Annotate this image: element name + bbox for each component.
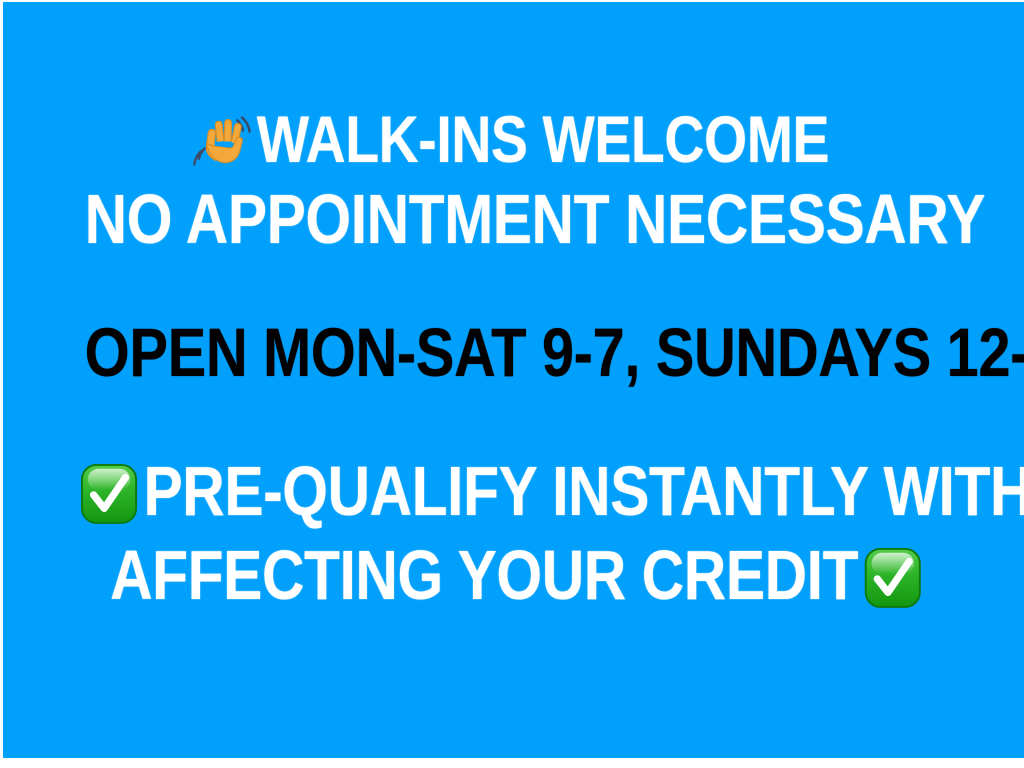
check-mark-button-icon [864,547,922,609]
waving-hand-icon [193,111,253,171]
line-spacer [3,262,1024,318]
sign-message-block: WALK-INS WELCOME NO APPOINTMENT NECESSAR… [3,106,1024,618]
sign-line-store-hours: OPEN MON-SAT 9-7, SUNDAYS 12-5 [85,318,943,394]
line-spacer [3,394,1024,456]
sign-line-text: WALK-INS WELCOME [257,102,829,176]
check-mark-button-icon [80,463,138,525]
sign-canvas: WALK-INS WELCOME NO APPOINTMENT NECESSAR… [0,0,1024,768]
sign-line-no-appointment-necessary: NO APPOINTMENT NECESSARY [85,184,943,262]
poster-background-panel: WALK-INS WELCOME NO APPOINTMENT NECESSAR… [3,2,1024,758]
sign-line-text: OPEN MON-SAT 9-7, SUNDAYS 12-5 [85,314,1024,391]
sign-line-text: NO APPOINTMENT NECESSARY [85,180,985,258]
sign-line-walk-ins-welcome: WALK-INS WELCOME [85,106,943,178]
sign-line-prequalify-instantly: PRE-QUALIFY INSTANTLY WITHOUT [85,456,943,534]
sign-line-text: AFFECTING YOUR CREDIT [110,536,858,614]
sign-line-affecting-your-credit: AFFECTING YOUR CREDIT [85,540,943,618]
sign-line-text: PRE-QUALIFY INSTANTLY WITHOUT [143,452,1024,530]
